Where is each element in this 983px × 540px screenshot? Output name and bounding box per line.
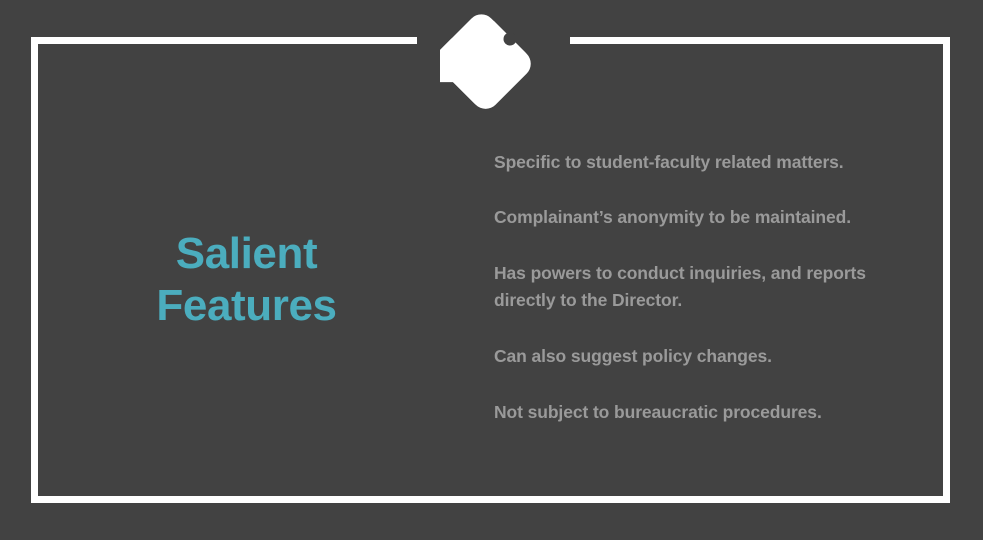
list-item: Has powers to conduct inquiries, and rep… [494, 260, 924, 315]
slide-canvas: Salient Features Specific to student-fac… [0, 0, 983, 540]
features-list: Specific to student-faculty related matt… [494, 131, 924, 426]
list-item: Complainant’s anonymity to be maintained… [494, 204, 924, 232]
frame-right-edge [943, 37, 950, 503]
price-tag-icon [440, 14, 544, 112]
frame-left-edge [31, 37, 38, 503]
frame-bottom-edge [31, 496, 950, 503]
list-item: Not subject to bureaucratic procedures. [494, 399, 924, 427]
frame-top-right-segment [570, 37, 950, 44]
frame-top-left-segment [31, 37, 417, 44]
list-item: Specific to student-faculty related matt… [494, 149, 924, 177]
page-title: Salient Features [60, 228, 433, 332]
tag-hole [504, 33, 517, 46]
page-title-line-1: Salient [60, 228, 433, 280]
page-title-line-2: Features [60, 280, 433, 332]
list-item: Can also suggest policy changes. [494, 343, 924, 371]
